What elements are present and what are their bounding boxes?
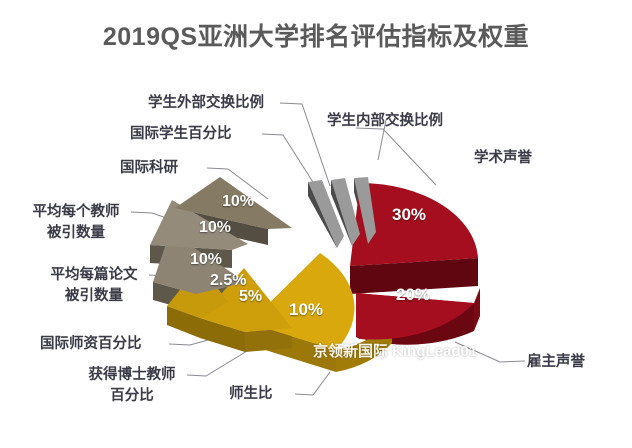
category-label-citations-per-faculty-line2: 被引数量 [22, 223, 130, 244]
value-label-academic-reputation: 30% [392, 205, 426, 225]
category-label-citations-per-paper-line1: 平均每篇论文 [40, 265, 148, 286]
category-label-inbound-exchange: 学生内部交换比例 [327, 111, 443, 132]
leader-line-academic-reputation [356, 128, 436, 185]
pie-chart-figure: 2019QS亚洲大学排名评估指标及权重 [0, 0, 632, 448]
value-label-citations-per-faculty: 10% [199, 219, 231, 237]
leader-line-student-faculty-ratio [295, 372, 330, 395]
value-label-intl-research: 10% [222, 193, 254, 211]
category-label-citations-per-faculty: 平均每个教师 被引数量 [22, 202, 130, 244]
category-label-intl-faculty: 国际师资百分比 [40, 334, 142, 355]
category-label-intl-students: 国际学生百分比 [130, 124, 232, 145]
category-label-citations-per-paper: 平均每篇论文 被引数量 [40, 265, 148, 307]
category-label-employer-reputation: 雇主声誉 [527, 352, 585, 373]
value-label-citations-per-paper: 10% [190, 251, 222, 269]
category-label-phd-faculty-line2: 百分比 [77, 386, 187, 407]
leader-line-outbound-exchange [280, 103, 330, 186]
slice-side-employer-edge2 [474, 288, 480, 331]
category-label-academic-reputation: 学术声誉 [474, 148, 532, 169]
category-label-intl-research: 国际科研 [120, 158, 178, 179]
category-label-student-faculty-ratio: 师生比 [229, 384, 273, 405]
category-label-citations-per-paper-line2: 被引数量 [40, 286, 148, 307]
value-label-intl-faculty: 2.5% [210, 272, 246, 290]
category-label-phd-faculty-line1: 获得博士教师 [77, 365, 187, 386]
leader-line-intl-students [262, 134, 318, 190]
watermark-text: 京领新国际 KingLead01 [313, 340, 477, 361]
category-label-phd-faculty: 获得博士教师 百分比 [77, 365, 187, 407]
category-label-citations-per-faculty-line1: 平均每个教师 [22, 202, 130, 223]
value-label-employer-reputation: 20% [396, 285, 430, 305]
category-label-outbound-exchange: 学生外部交换比例 [148, 93, 264, 114]
leader-line-phd-faculty [187, 348, 252, 376]
value-label-phd-faculty: 5% [239, 288, 262, 306]
value-label-student-faculty-ratio: 10% [289, 300, 323, 320]
